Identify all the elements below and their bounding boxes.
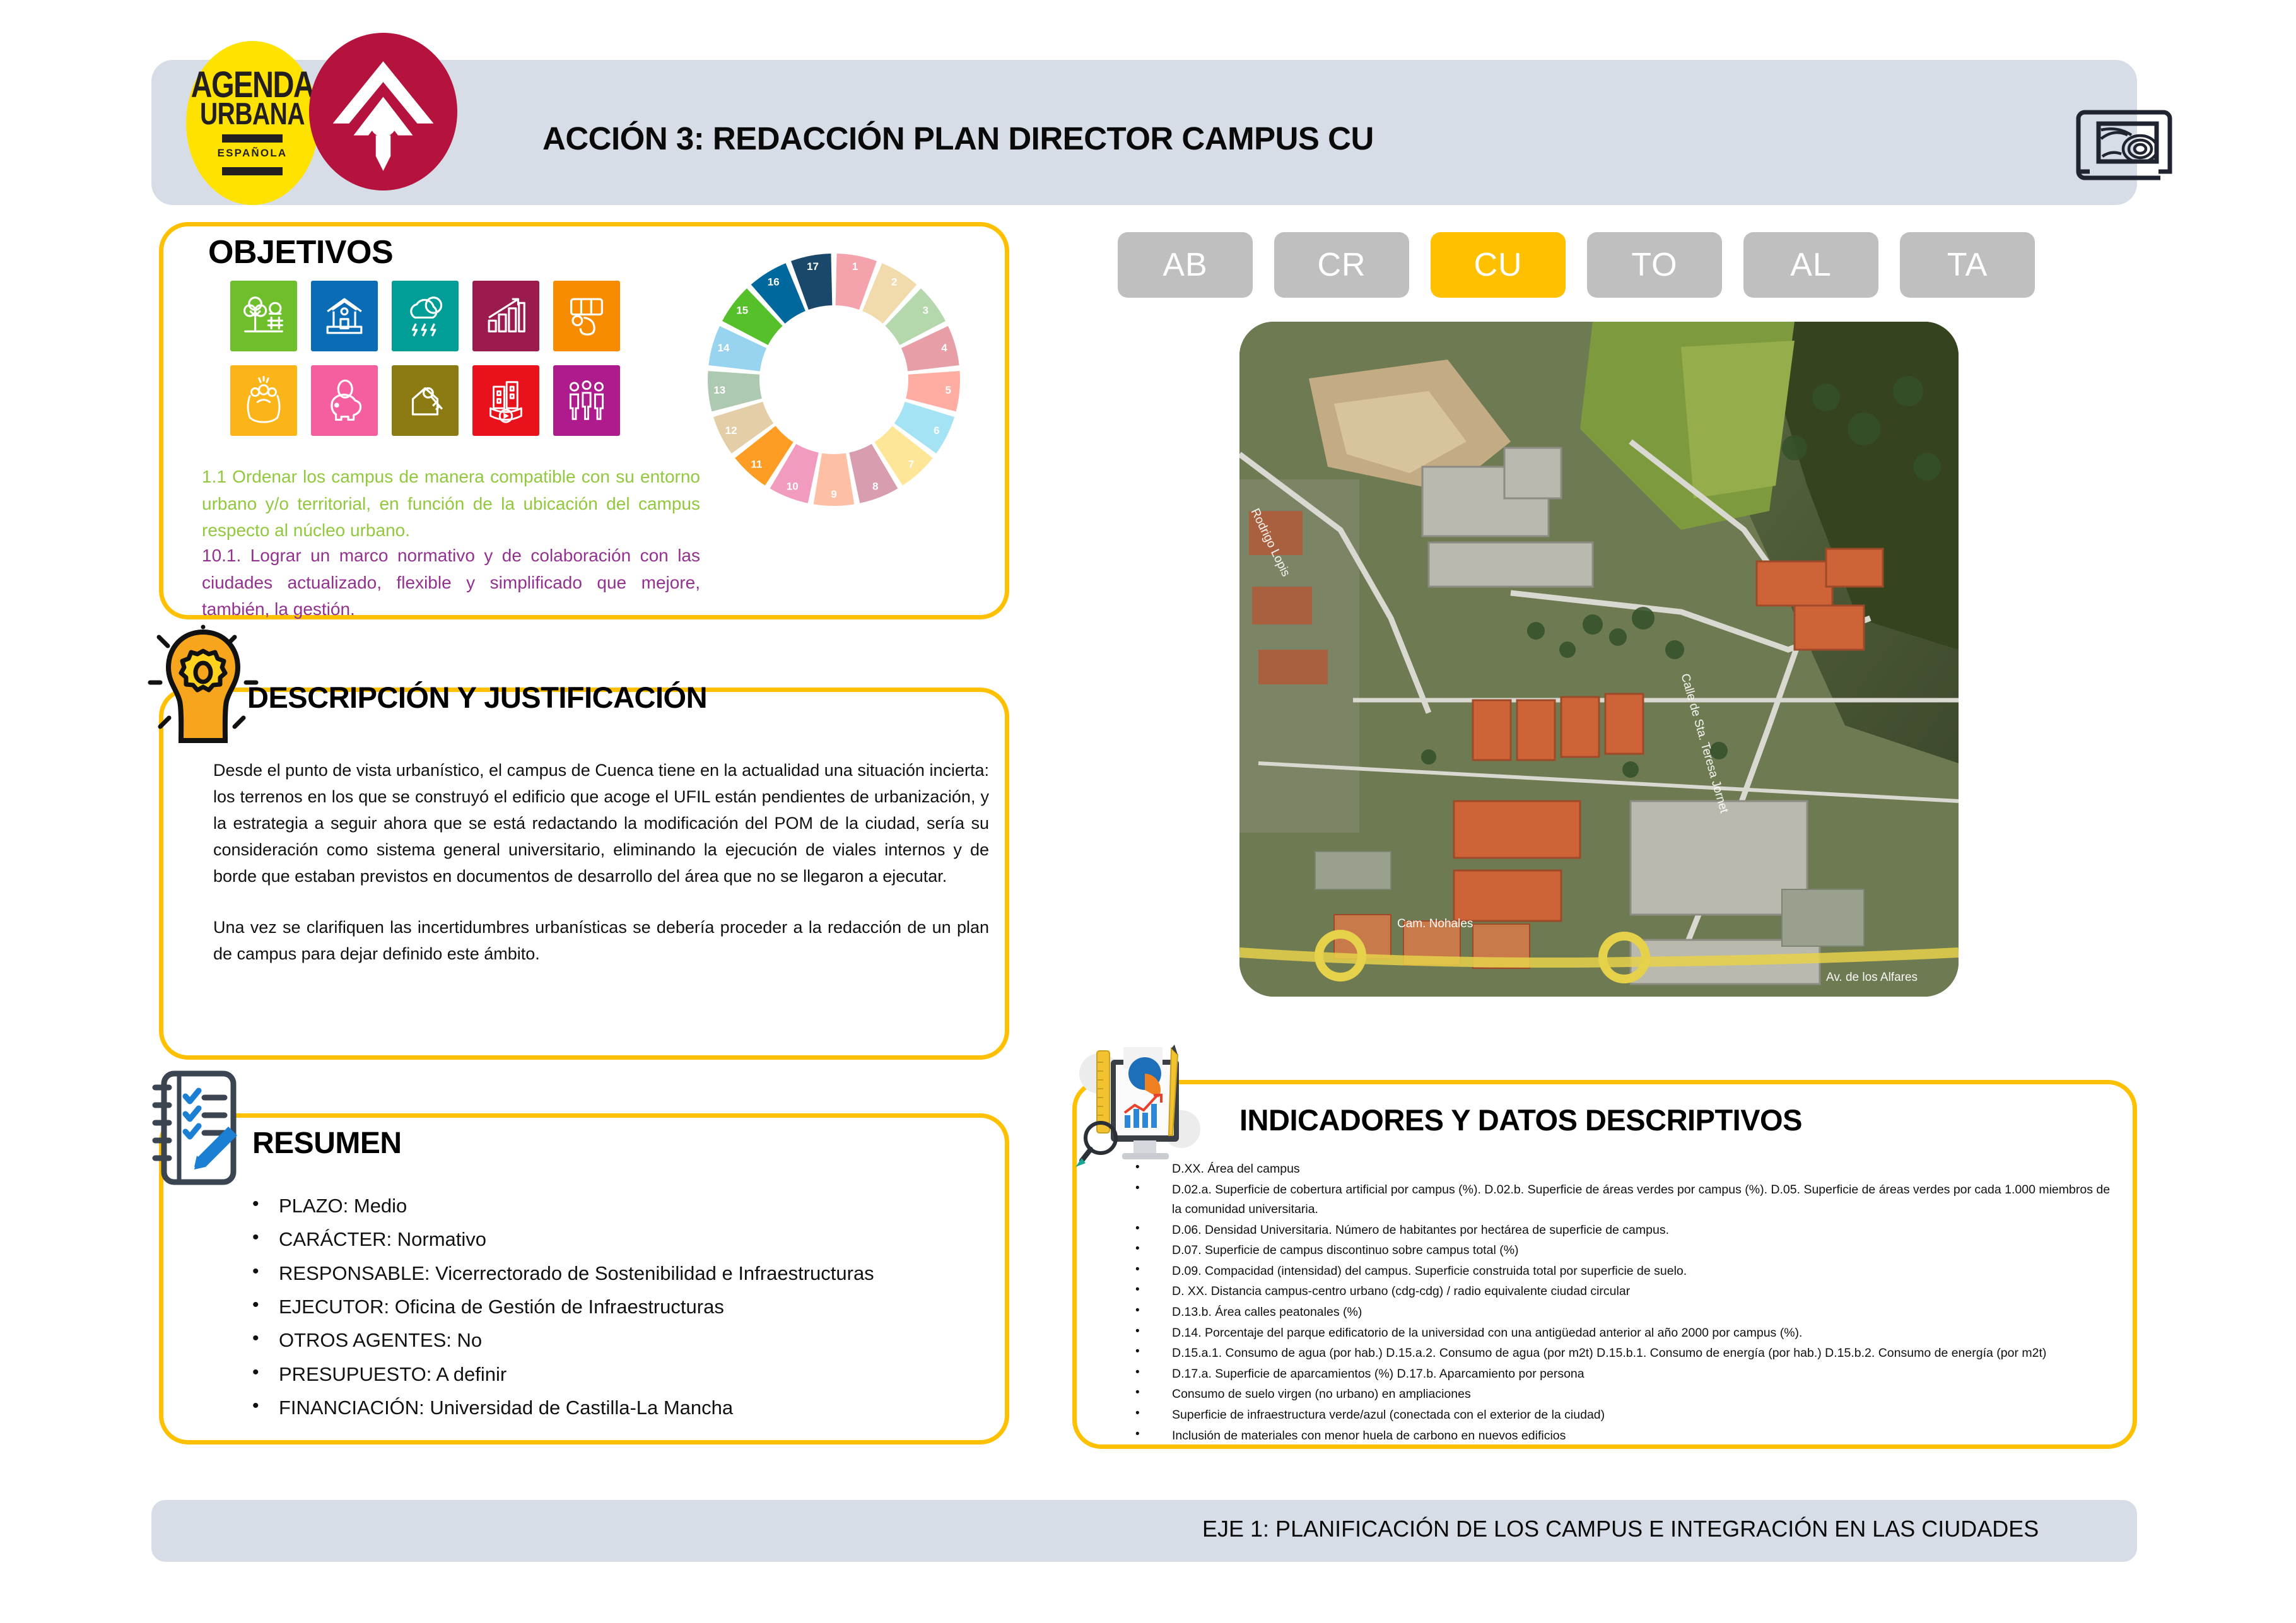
lightbulb-gear-icon <box>140 618 266 747</box>
sdg-wheel-segment-number: 5 <box>945 384 951 396</box>
street-label: Cam. Nohales <box>1397 917 1473 930</box>
street-label: Av. de los Alfares <box>1826 971 1918 984</box>
sdg-tile-growth-chart <box>472 281 539 351</box>
indicadores-heading: INDICADORES Y DATOS DESCRIPTIVOS <box>1239 1103 1802 1137</box>
sdg-wheel-segment-number: 4 <box>941 342 947 354</box>
sdg-tile-storm-cloud <box>392 281 459 351</box>
tab-campus-ab[interactable]: AB <box>1118 232 1253 298</box>
list-item: D.15.a.1. Consumo de agua (por hab.) D.1… <box>1135 1344 2119 1364</box>
sdg-wheel-segment-number: 11 <box>751 458 762 470</box>
objective-1-text: 1.1 Ordenar los campus de manera compati… <box>202 464 700 544</box>
campus-tabs: AB CR CU TO AL TA <box>1118 232 2035 298</box>
list-item: Inclusión de materiales con menor huela … <box>1135 1426 2119 1446</box>
descripcion-heading: DESCRIPCIÓN Y JUSTIFICACIÓN <box>247 680 707 715</box>
indicadores-list: D.XX. Área del campus D.02.a. Superficie… <box>1135 1159 2119 1446</box>
sdg-tile-park-trees <box>230 281 297 351</box>
sdg-tile-hands-people <box>230 365 297 436</box>
broadcast-signal-icon <box>309 33 457 190</box>
logo-rule-bottom <box>222 167 283 175</box>
sdg-wheel-segment-number: 13 <box>713 384 725 396</box>
sdg-wheel-segment-number: 2 <box>891 276 897 288</box>
descripcion-paragraph-1: Desde el punto de vista urbanístico, el … <box>213 757 989 890</box>
sdg-tile-piggy-bank <box>311 365 378 436</box>
logo-line-espanola: ESPAÑOLA <box>218 147 288 160</box>
list-item: D.09. Compacidad (intensidad) del campus… <box>1135 1262 2119 1282</box>
uclm-broadcast-logo <box>309 33 457 190</box>
sdg-tile-house-keys <box>392 365 459 436</box>
descripcion-paragraph-2: Una vez se clarifiquen las incertidumbre… <box>213 914 989 967</box>
list-item: Superficie de infraestructura verde/azul… <box>1135 1405 2119 1426</box>
campus-aerial-satellite-photo: Rodrigo Lopis Calle de Sta. Teresa Jorne… <box>1239 322 1959 997</box>
list-item: EJECUTOR: Oficina de Gestión de Infraest… <box>252 1290 978 1323</box>
list-item: D.07. Superficie de campus discontinuo s… <box>1135 1241 2119 1261</box>
objetivos-heading: OBJETIVOS <box>208 233 393 271</box>
sdg-wheel-segment-number: 17 <box>807 261 819 272</box>
sdg-tile-house-building <box>311 281 378 351</box>
list-item: D.14. Porcentaje del parque edificatorio… <box>1135 1323 2119 1344</box>
notepad-checklist-pencil-icon <box>146 1066 244 1189</box>
list-item: D.06. Densidad Universitaria. Número de … <box>1135 1221 2119 1241</box>
sdg-wheel-segment-number: 10 <box>787 481 799 493</box>
list-item: RESPONSABLE: Vicerrectorado de Sostenibi… <box>252 1257 978 1290</box>
sdg-tile-bus-transport <box>553 281 620 351</box>
agenda-urbana-logo: AGENDA URBANA ESPAÑOLA <box>186 41 319 205</box>
list-item: D. XX. Distancia campus-centro urbano (c… <box>1135 1282 2119 1302</box>
tab-campus-ta[interactable]: TA <box>1900 232 2035 298</box>
sdg-wheel-segment-number: 3 <box>922 304 928 316</box>
sdg-wheel-segment-number: 1 <box>852 261 858 272</box>
sdg-wheel-segment-number: 15 <box>736 304 748 316</box>
list-item: OTROS AGENTES: No <box>252 1323 978 1357</box>
sdg-tile-group-people <box>553 365 620 436</box>
resumen-list: PLAZO: Medio CARÁCTER: Normativo RESPONS… <box>252 1189 978 1424</box>
poster-page: AGENDA URBANA ESPAÑOLA ACCIÓN 3: REDACCI… <box>0 0 2296 1623</box>
footer-label: EJE 1: PLANIFICACIÓN DE LOS CAMPUS E INT… <box>1202 1516 2039 1542</box>
list-item: D.02.a. Superficie de cobertura artifici… <box>1135 1180 2119 1220</box>
tab-campus-al[interactable]: AL <box>1743 232 1878 298</box>
list-item: PLAZO: Medio <box>252 1189 978 1222</box>
sdg-wheel-graphic: 1234567891011121314151617 <box>701 247 966 512</box>
sdg-tile-buildings-digital <box>472 365 539 436</box>
list-item: Consumo de suelo virgen (no urbano) en a… <box>1135 1385 2119 1405</box>
chart-monitor-ruler-icon <box>1075 1034 1208 1170</box>
sdg-wheel-segment-number: 7 <box>908 458 914 470</box>
logo-rule-top <box>222 134 283 143</box>
sdg-wheel-segment-number: 16 <box>768 276 780 288</box>
objective-2-text: 10.1. Lograr un marco normativo y de col… <box>202 542 700 623</box>
blueprint-scroll-icon <box>2066 101 2186 189</box>
list-item: CARÁCTER: Normativo <box>252 1222 978 1256</box>
list-item: D.17.a. Superficie de aparcamientos (%) … <box>1135 1364 2119 1385</box>
logo-line-urbana: URBANA <box>200 99 305 130</box>
sdg-wheel-segment-number: 6 <box>934 425 939 437</box>
list-item: D.13.b. Área calles peatonales (%) <box>1135 1303 2119 1323</box>
list-item: D.XX. Área del campus <box>1135 1159 2119 1180</box>
page-title: ACCIÓN 3: REDACCIÓN PLAN DIRECTOR CAMPUS… <box>542 120 1930 157</box>
list-item: PRESUPUESTO: A definir <box>252 1357 978 1391</box>
resumen-heading: RESUMEN <box>252 1126 402 1161</box>
list-item: FINANCIACIÓN: Universidad de Castilla-La… <box>252 1391 978 1424</box>
sdg-wheel-segment-number: 8 <box>872 481 878 493</box>
sdg-wheel-segment-number: 9 <box>831 488 836 500</box>
sdg-tiles-grid <box>230 281 620 436</box>
descripcion-body: Desde el punto de vista urbanístico, el … <box>213 757 989 967</box>
sdg-wheel-segment-number: 14 <box>718 342 730 354</box>
tab-campus-to[interactable]: TO <box>1587 232 1722 298</box>
tab-campus-cu[interactable]: CU <box>1431 232 1566 298</box>
sdg-wheel-segment-number: 12 <box>725 425 737 437</box>
logo-line-agenda: AGENDA <box>191 67 314 102</box>
tab-campus-cr[interactable]: CR <box>1274 232 1409 298</box>
